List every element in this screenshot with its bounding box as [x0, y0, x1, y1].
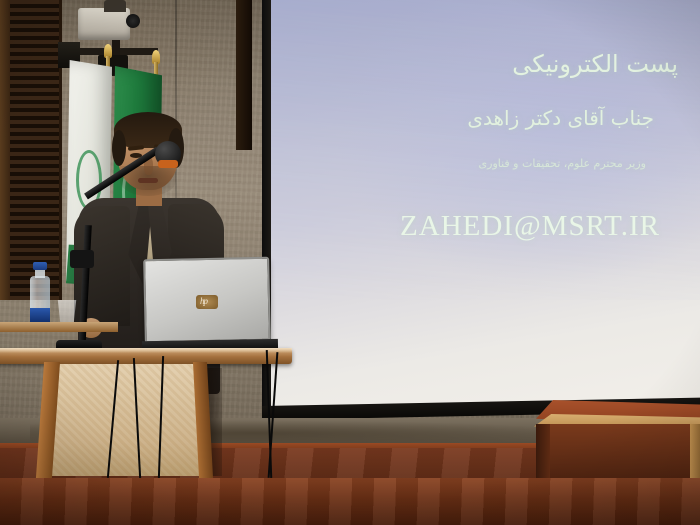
- slide-content: پست الکترونیکی جناب آقای دکتر زاهدی وزیر…: [271, 0, 700, 300]
- microphone-band: [158, 160, 178, 168]
- slide-role-line: وزیر محترم علوم، تحقیقات و فناوری: [479, 157, 646, 170]
- side-table-leg: [690, 424, 700, 480]
- bottom-banner: www.guilan.ac.ir /۱۳۸۷مهر۲۵ حضور وزیر مح…: [0, 478, 700, 525]
- projector-icon: [78, 8, 130, 40]
- side-table-left-panel: [536, 424, 550, 480]
- podium-front-panel: [52, 364, 200, 476]
- slide-subtitle: جناب آقای دکتر زاهدی: [467, 106, 654, 130]
- hair-side-left: [112, 130, 126, 166]
- hp-logo-text: hp: [200, 296, 207, 306]
- photograph: پست الکترونیکی جناب آقای دکتر زاهدی وزیر…: [0, 0, 700, 525]
- bottle-cap: [33, 262, 47, 270]
- bottle-label: [30, 308, 50, 322]
- microphone-clamp: [70, 250, 94, 268]
- slide-email: ZAHEDI@MSRT.IR: [400, 210, 660, 243]
- slide-title: پست الکترونیکی: [512, 50, 678, 78]
- side-table-body: [548, 424, 700, 480]
- mouth: [138, 178, 158, 183]
- podium-desktop-highlight: [0, 348, 292, 353]
- projector-top-cap: [104, 0, 126, 12]
- projector-lens-icon: [126, 14, 140, 28]
- podium-shelf: [0, 322, 118, 332]
- door-frame: [236, 0, 252, 150]
- louvre-frame: [0, 0, 10, 300]
- projection-screen: پست الکترونیکی جناب آقای دکتر زاهدی وزیر…: [262, 0, 700, 424]
